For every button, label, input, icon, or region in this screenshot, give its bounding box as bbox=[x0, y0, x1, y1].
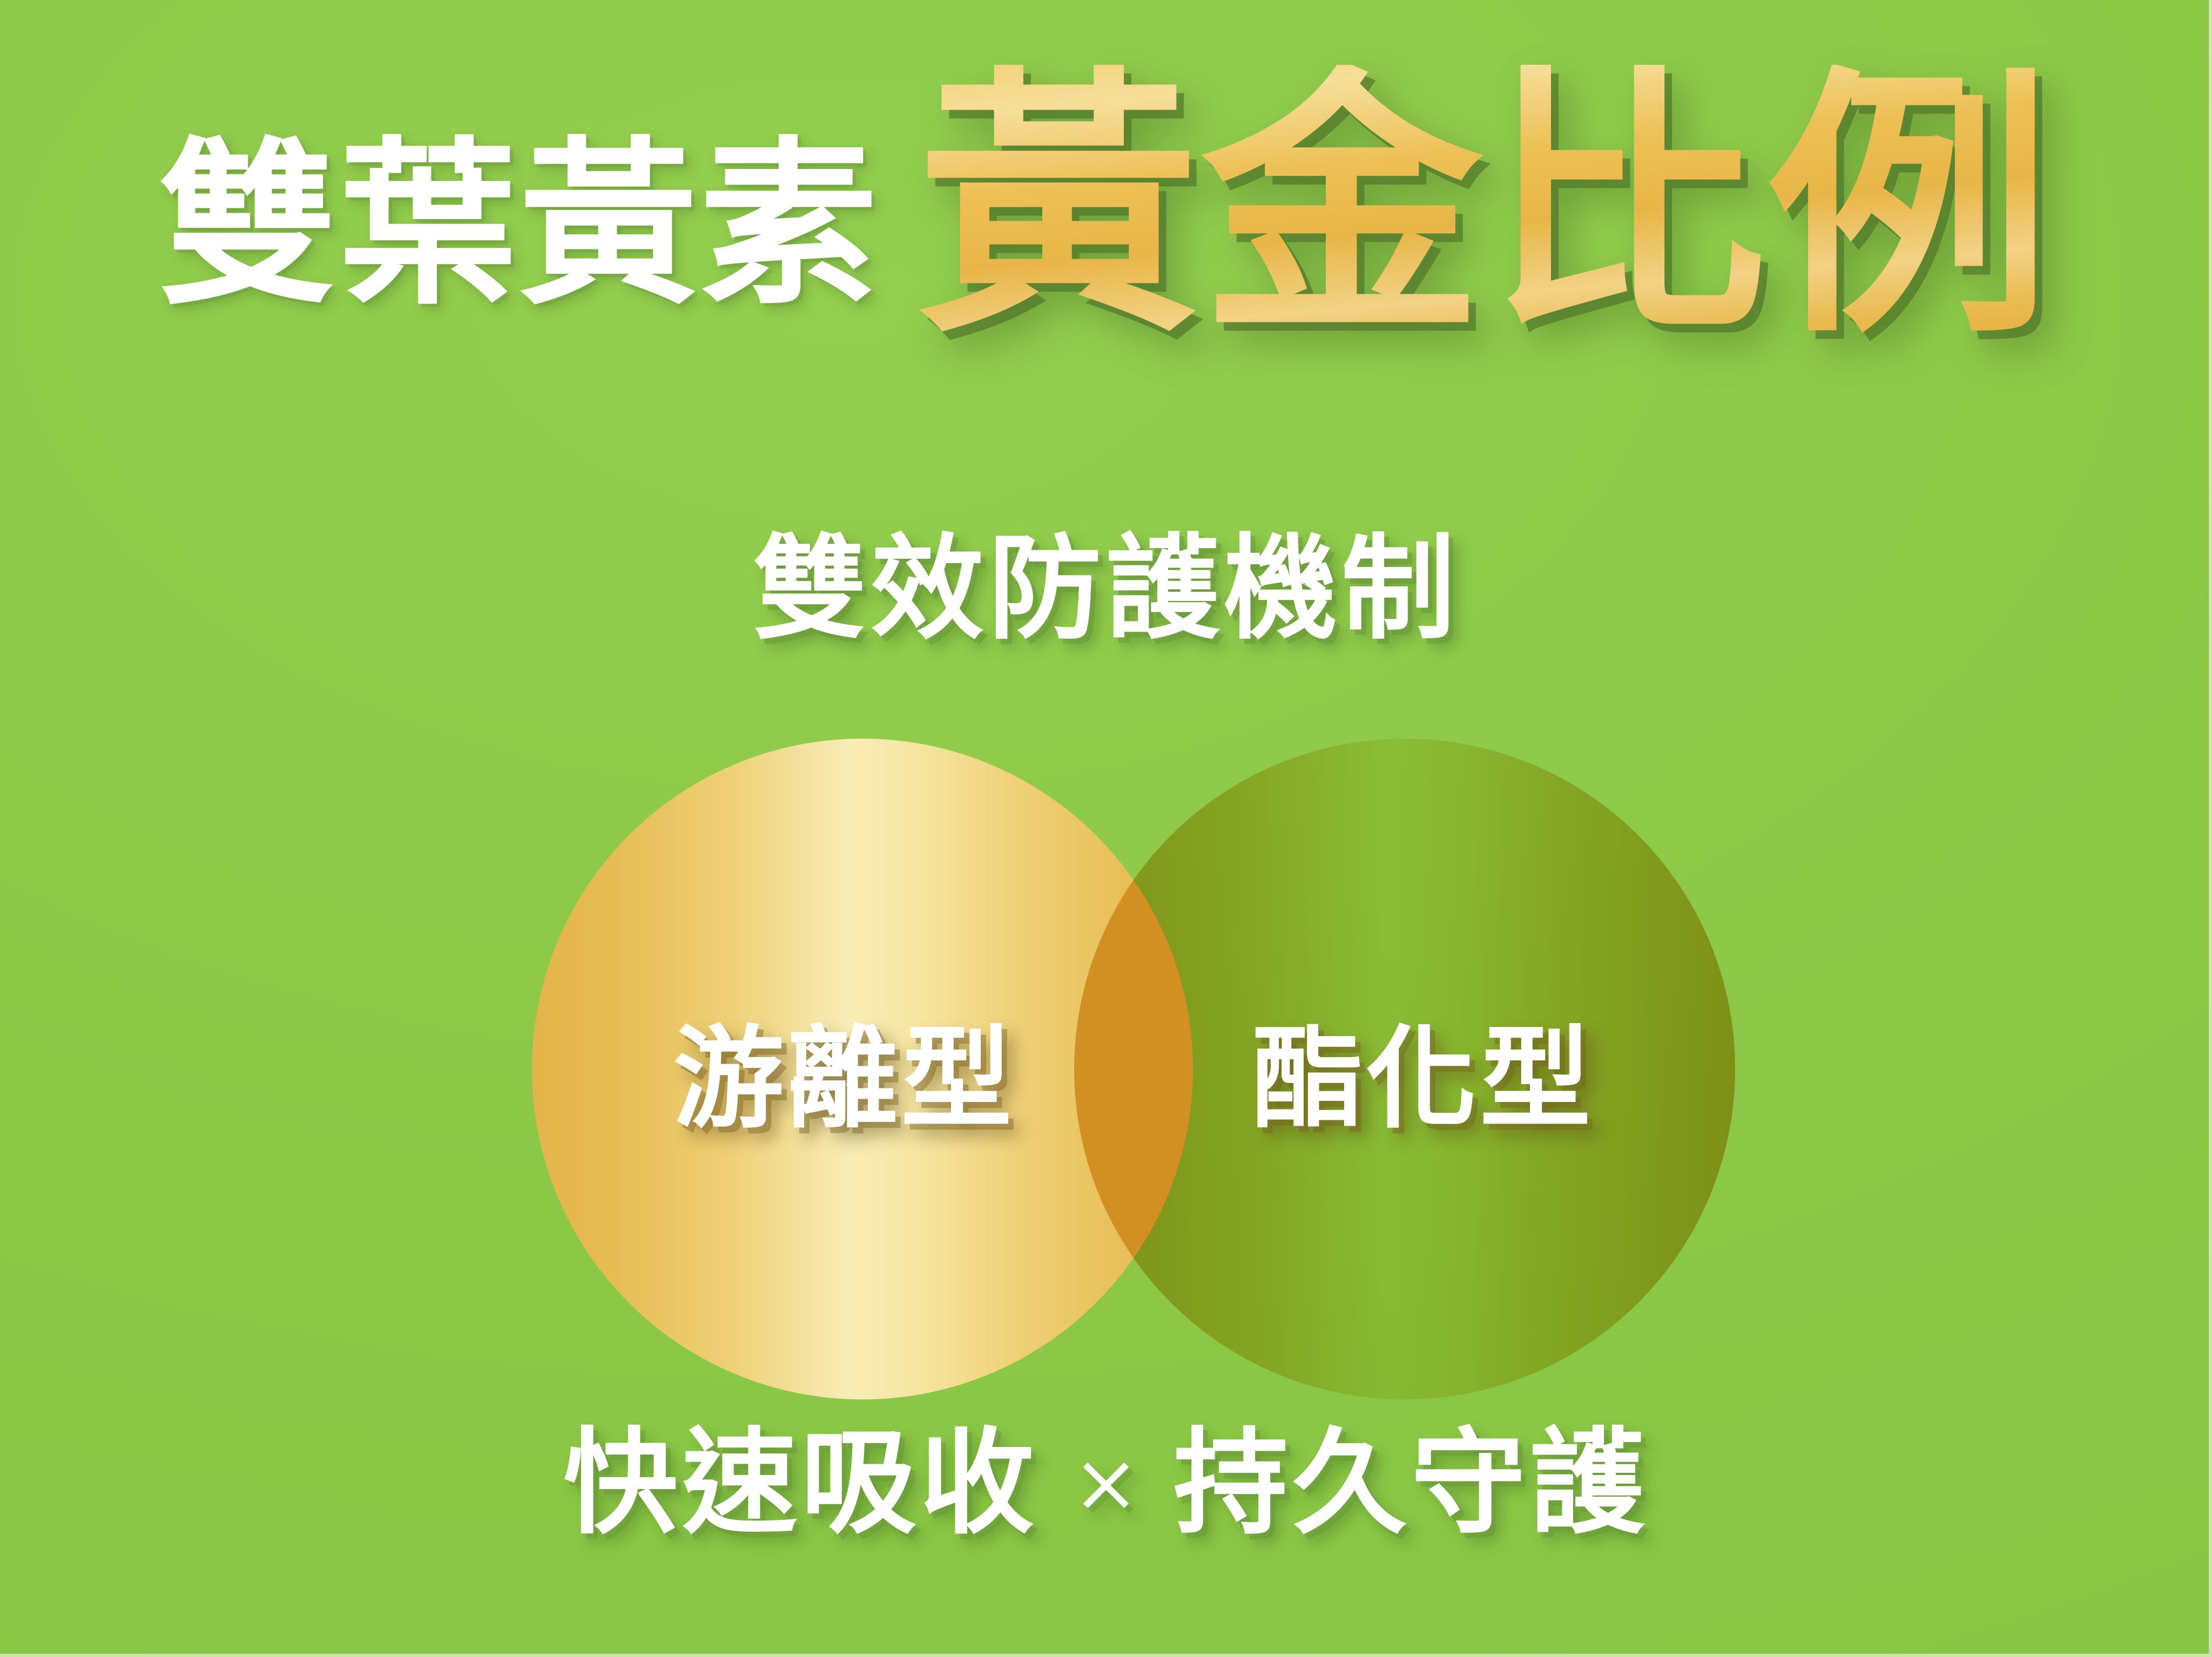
footer-benefit-right: 持久守護 bbox=[1174, 1415, 1649, 1550]
footer-tagline: 快速吸收×持久守護 bbox=[0, 1425, 2212, 1540]
brand-title: 雙葉黃素 bbox=[158, 135, 880, 313]
venn-label-right: 酯化型 bbox=[1092, 739, 1754, 1399]
title-row: 雙葉黃素 黃金比例 bbox=[0, 81, 2212, 432]
subtitle-text: 雙效防護機制 bbox=[0, 532, 2212, 645]
multiply-icon: × bbox=[1072, 1443, 1140, 1524]
poster-canvas: 雙葉黃素 黃金比例 雙效防護機制 游離型 酯化型 快速吸收×持久守護 bbox=[0, 0, 2212, 1657]
headline-title: 黃金比例 bbox=[918, 65, 2054, 346]
venn-diagram: 游離型 酯化型 bbox=[532, 739, 1735, 1399]
footer-benefit-left: 快速吸收 bbox=[563, 1415, 1038, 1550]
venn-label-left: 游離型 bbox=[514, 739, 1175, 1399]
